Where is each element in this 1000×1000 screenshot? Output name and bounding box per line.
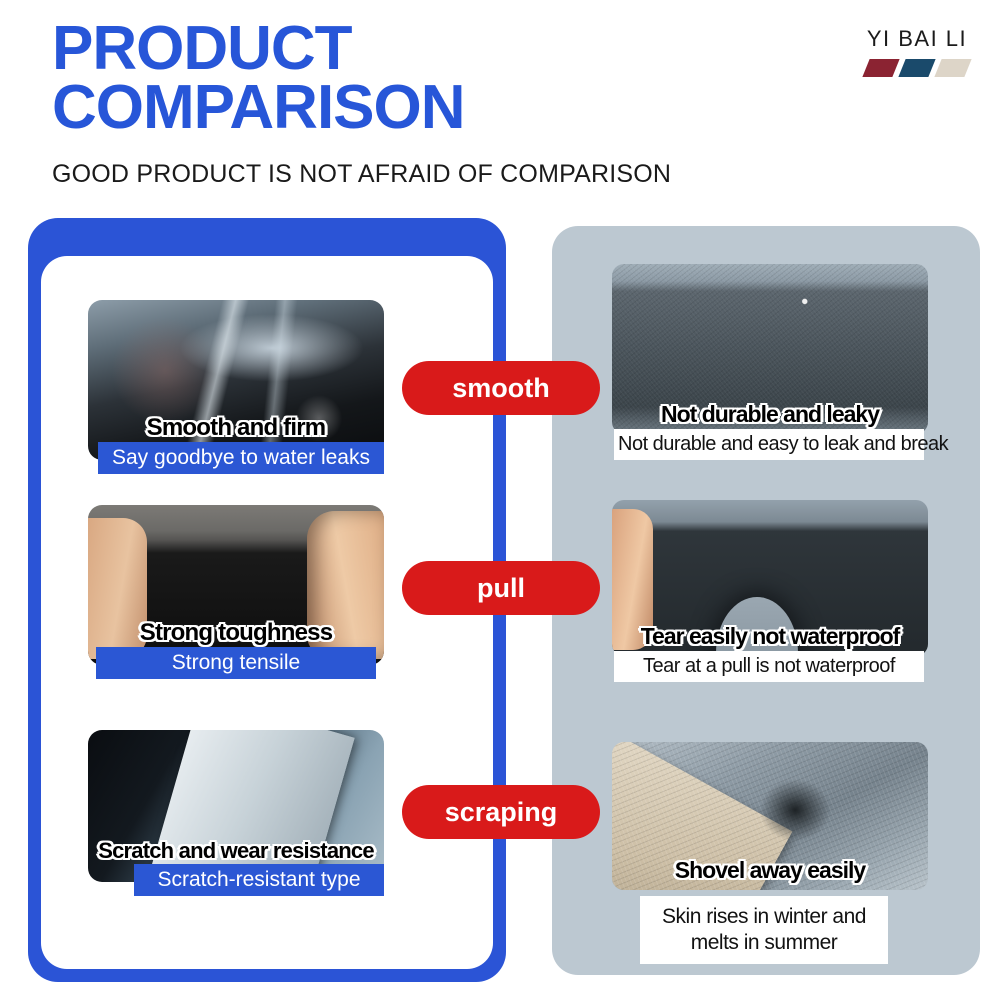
other-product-photo-3: Shovel away easily xyxy=(612,742,928,890)
other-product-card-2: Tear easily not waterproof Tear at a pul… xyxy=(612,500,928,656)
our-product-card-3: Scratch and wear resistance Scratch-resi… xyxy=(88,730,384,882)
our-product-photo-2: Strong toughness xyxy=(88,505,384,665)
other-product-caption-3: Skin rises in winter and melts in summer xyxy=(640,896,888,965)
other-product-overlay-title-2: Tear easily not waterproof xyxy=(612,623,928,650)
logo-mark-red xyxy=(862,59,899,77)
page-subtitle: GOOD PRODUCT IS NOT AFRAID OF COMPARISON xyxy=(52,160,671,189)
brand-logo-text: YI BAI LI xyxy=(866,26,968,52)
other-product-card-1: Not durable and leaky Not durable and ea… xyxy=(612,264,928,434)
comparison-badge-pull: pull xyxy=(402,561,600,615)
page-header: PRODUCT COMPARISON GOOD PRODUCT IS NOT A… xyxy=(0,0,1000,210)
our-product-overlay-title-3: Scratch and wear resistance xyxy=(88,838,384,864)
our-product-caption-1: Say goodbye to water leaks xyxy=(98,442,384,474)
our-product-photo-3: Scratch and wear resistance xyxy=(88,730,384,882)
other-product-overlay-title-3: Shovel away easily xyxy=(612,857,928,884)
other-product-caption-2: Tear at a pull is not waterproof xyxy=(614,651,924,682)
our-product-card-1: Smooth and firm Say goodbye to water lea… xyxy=(88,300,384,460)
comparison-badge-smooth: smooth xyxy=(402,361,600,415)
our-product-caption-3: Scratch-resistant type xyxy=(134,864,384,896)
our-product-overlay-title-2: Strong toughness xyxy=(88,619,384,647)
our-product-overlay-title-1: Smooth and firm xyxy=(88,414,384,442)
our-product-card-2: Strong toughness Strong tensile xyxy=(88,505,384,665)
comparison-badge-scraping: scraping xyxy=(402,785,600,839)
logo-mark-blue xyxy=(898,59,935,77)
page-title-line-2: COMPARISON xyxy=(52,79,465,138)
our-product-photo-1: Smooth and firm xyxy=(88,300,384,460)
other-product-photo-1: Not durable and leaky xyxy=(612,264,928,434)
other-product-caption-1: Not durable and easy to leak and break xyxy=(614,429,924,460)
page-title: PRODUCT COMPARISON xyxy=(52,20,465,138)
logo-mark-beige xyxy=(934,59,971,77)
brand-logo: YI BAI LI xyxy=(866,26,968,77)
other-product-card-3: Shovel away easily Skin rises in winter … xyxy=(612,742,928,890)
page-title-line-1: PRODUCT xyxy=(52,20,465,79)
other-product-overlay-title-1: Not durable and leaky xyxy=(612,401,928,428)
our-product-caption-2: Strong tensile xyxy=(96,647,376,679)
brand-logo-marks xyxy=(866,59,968,77)
other-product-photo-2: Tear easily not waterproof xyxy=(612,500,928,656)
